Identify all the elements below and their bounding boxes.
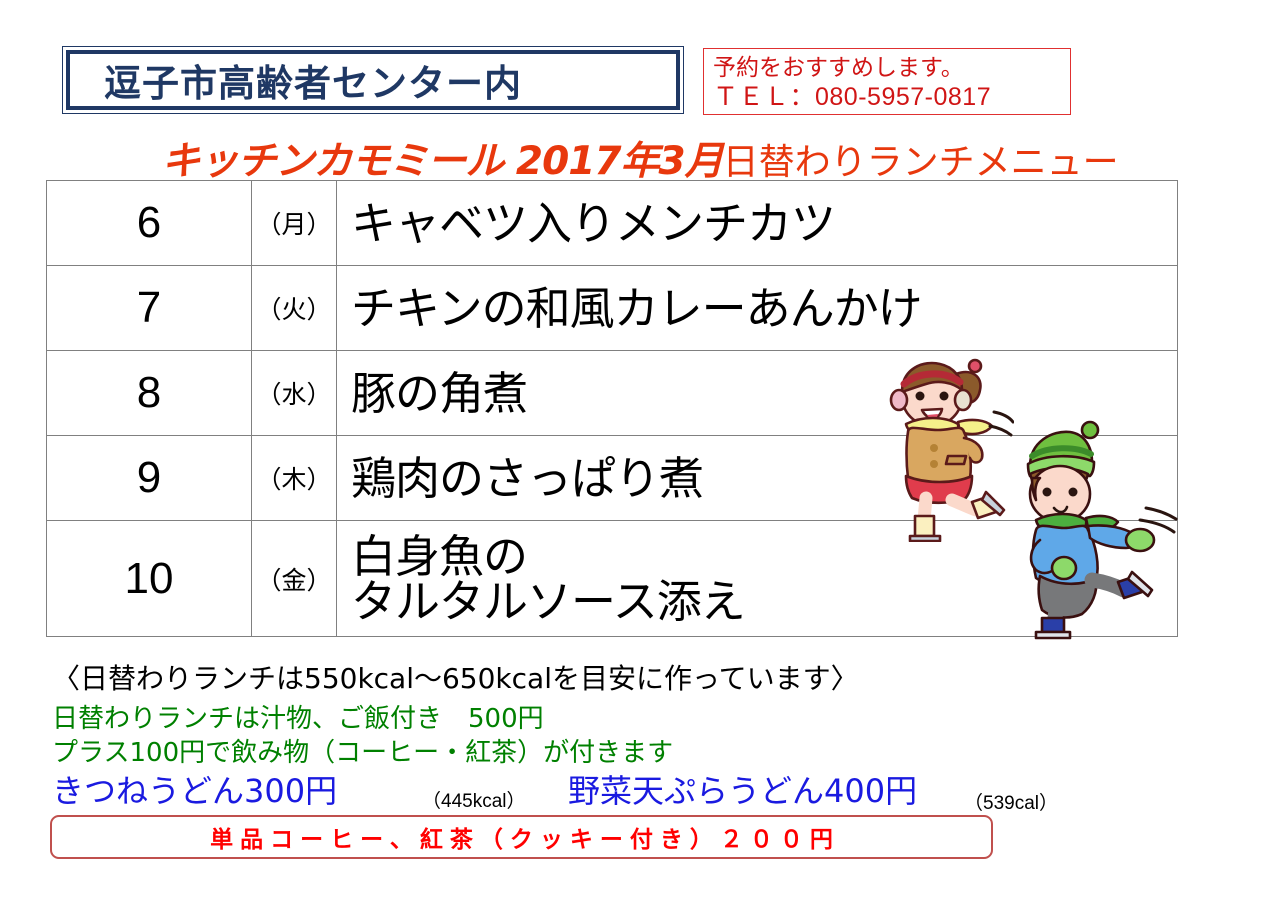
page-title: キッチンカモミール 2017年3月日替わりランチメニュー	[0, 130, 1280, 186]
telephone-number: ＴＥＬ：080-5957-0817	[713, 82, 1070, 112]
menu-flyer: 逗子市高齢者センター内 予約をおすすめします。 ＴＥＬ：080-5957-081…	[0, 0, 1280, 904]
menu-dish-line1: チキンの和風カレーあんかけ	[351, 282, 922, 335]
menu-dish: キャベツ入りメンチカツ	[337, 181, 1178, 266]
menu-day: （木）	[252, 436, 337, 521]
udon-item-name: きつねうどん300円	[52, 766, 337, 812]
udon-item-kcal: （445kcal）	[422, 786, 526, 813]
reservation-note: 予約をおすすめします。	[713, 52, 1070, 82]
title-shop-month: キッチンカモミール 2017年3月	[161, 139, 722, 184]
menu-day: （火）	[252, 266, 337, 351]
coffee-price-label: 単品コーヒー、紅茶（クッキー付き）２００円	[203, 820, 840, 854]
udon-item-name: 野菜天ぷらうどん400円	[568, 766, 917, 812]
boy-ice-skater-icon	[1012, 420, 1184, 640]
udon-price-row: きつねうどん300円 （445kcal） 野菜天ぷらうどん400円 （539ca…	[52, 764, 1082, 806]
girl-ice-skater-icon	[882, 352, 1014, 542]
menu-dish-line1: 豚の角煮	[351, 367, 527, 420]
venue-header-box: 逗子市高齢者センター内	[66, 50, 680, 110]
table-row: 6 （月） キャベツ入りメンチカツ	[47, 181, 1178, 266]
menu-dish-line1: キャベツ入りメンチカツ	[351, 197, 835, 250]
menu-date: 6	[47, 181, 252, 266]
calorie-range-note: 〈日替わりランチは550kcal〜650kcalを目安に作っています〉	[52, 657, 859, 697]
udon-item-kcal: （539cal）	[964, 788, 1058, 815]
menu-day: （水）	[252, 351, 337, 436]
menu-day: （金）	[252, 521, 337, 637]
coffee-price-box: 単品コーヒー、紅茶（クッキー付き）２００円	[50, 815, 993, 859]
title-menu-label: 日替わりランチメニュー	[723, 141, 1119, 182]
lunch-set-note: 日替わりランチは汁物、ご飯付き 500円	[52, 698, 544, 735]
menu-date: 9	[47, 436, 252, 521]
menu-date: 7	[47, 266, 252, 351]
table-row: 7 （火） チキンの和風カレーあんかけ	[47, 266, 1178, 351]
menu-date: 8	[47, 351, 252, 436]
menu-dish-line1: 鶏肉のさっぱり煮	[351, 452, 703, 505]
reservation-tel-box: 予約をおすすめします。 ＴＥＬ：080-5957-0817	[703, 48, 1071, 115]
menu-date: 10	[47, 521, 252, 637]
venue-label: 逗子市高齢者センター内	[70, 53, 522, 107]
menu-dish: チキンの和風カレーあんかけ	[337, 266, 1178, 351]
menu-day: （月）	[252, 181, 337, 266]
